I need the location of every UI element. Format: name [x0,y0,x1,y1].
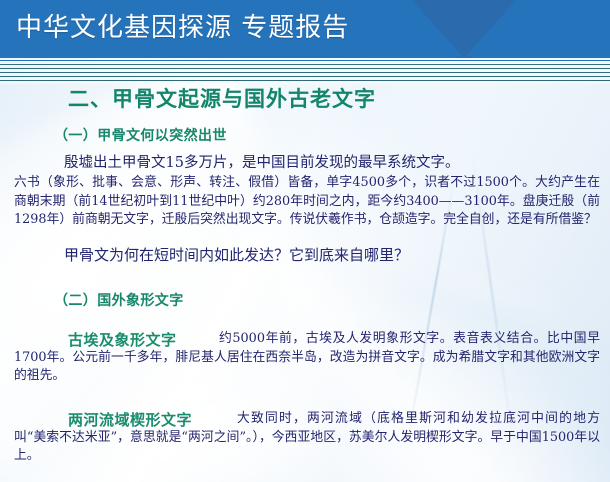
question-paragraph: 甲骨文为何在短时间内如此发达？它到底来自哪里？ [34,244,594,266]
rule-line-1 [0,60,610,61]
section-two-heading: （二）国外象形文字 [54,291,184,311]
slide-header-title: 中华文化基因探源 专题报告 [16,7,349,49]
rule-line-3 [0,68,610,69]
detail-paragraph: 六书（象形、批事、会意、形声、转注、假借）皆备，单字4500多个，识者不过150… [14,174,600,230]
rule-line-6 [0,80,610,81]
presentation-slide: 中华文化基因探源 专题报告 二、甲骨文起源与国外古老文字 （一）甲骨文何以突然出… [0,0,610,482]
rule-line-4 [0,72,610,73]
section-one-heading: （一）甲骨文何以突然出世 [54,126,227,146]
main-heading: 二、甲骨文起源与国外古老文字 [68,85,376,113]
term-body-egyptian-hieroglyphs: 约5000年前，古埃及人发明象形文字。表音表义结合。比中国早1700年。公元前一… [14,330,600,386]
header-banner: 中华文化基因探源 专题报告 [0,0,610,58]
header-rule-lines [0,58,610,84]
slide-content: 二、甲骨文起源与国外古老文字 （一）甲骨文何以突然出世 殷墟出土甲骨文15多万片… [0,84,610,482]
lead-paragraph: 殷墟出土甲骨文15多万片，是中国目前发现的最早系统文字。 [34,152,594,174]
rule-line-5 [0,76,610,77]
rule-line-2 [0,64,610,65]
header-triangle-decoration [412,0,516,58]
term-body-cuneiform: 大致同时，两河流域（底格里斯河和幼发拉底河中间的地方叫“美索不达米亚”，意思就是… [14,410,600,466]
